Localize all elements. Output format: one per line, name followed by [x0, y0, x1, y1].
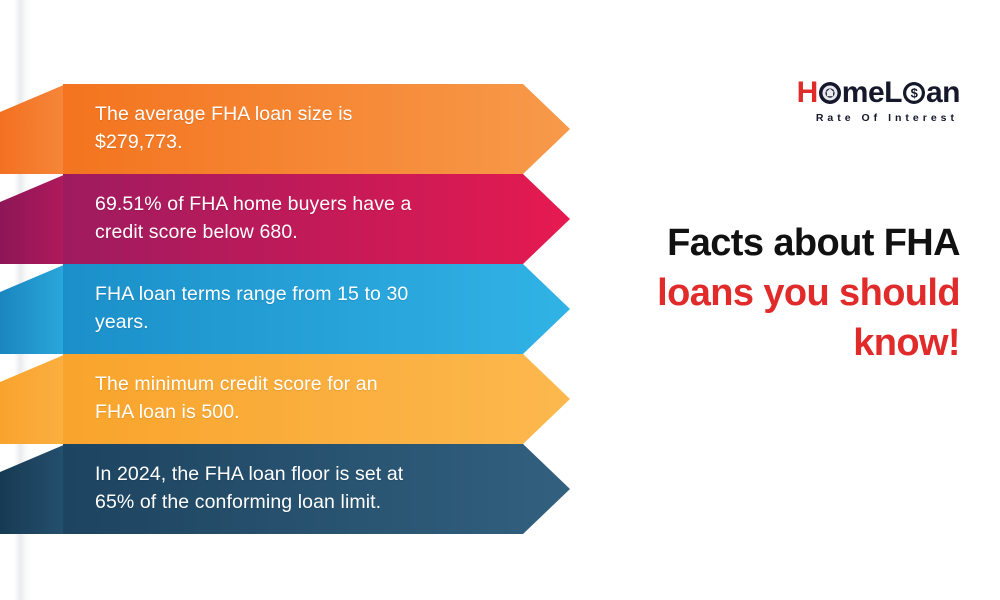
- home-circle-icon: [818, 81, 842, 105]
- fact-banner-2-fold: [0, 174, 66, 264]
- facts-banner-stack: The average FHA loan size is $279,773.: [0, 84, 570, 534]
- fact-banner-5-text: In 2024, the FHA loan floor is set at 65…: [95, 444, 495, 534]
- fact-banner-4-text: The minimum credit score for an FHA loan…: [95, 354, 495, 444]
- brand-logo[interactable]: H me L $ an Rate Of Interest: [750, 78, 960, 124]
- headline-line-1: Facts about FHA: [560, 218, 960, 268]
- logo-letters-me: me: [842, 78, 884, 108]
- headline-line-3: know!: [560, 318, 960, 368]
- fact-banner-3-text: FHA loan terms range from 15 to 30 years…: [95, 264, 495, 354]
- headline-line-2: loans you should: [560, 268, 960, 318]
- logo-letter-h: H: [797, 78, 818, 108]
- fact-banner-4[interactable]: The minimum credit score for an FHA loan…: [0, 354, 570, 444]
- fact-banner-3[interactable]: FHA loan terms range from 15 to 30 years…: [0, 264, 570, 354]
- fact-banner-2[interactable]: 69.51% of FHA home buyers have a credit …: [0, 174, 570, 264]
- logo-wordmark: H me L $ an: [750, 78, 960, 108]
- logo-tagline: Rate Of Interest: [750, 112, 960, 124]
- fact-banner-1-fold: [0, 84, 66, 174]
- fact-banner-1[interactable]: The average FHA loan size is $279,773.: [0, 84, 570, 174]
- dollar-circle-icon: $: [902, 81, 926, 105]
- fact-banner-5[interactable]: In 2024, the FHA loan floor is set at 65…: [0, 444, 570, 534]
- page-title: Facts about FHA loans you should know!: [560, 218, 960, 368]
- fact-banner-4-fold: [0, 354, 66, 444]
- logo-letter-l: L: [884, 78, 902, 108]
- logo-letters-an: an: [926, 78, 960, 108]
- infographic-canvas: The average FHA loan size is $279,773.: [0, 0, 1000, 600]
- fact-banner-2-text: 69.51% of FHA home buyers have a credit …: [95, 174, 495, 264]
- fact-banner-1-text: The average FHA loan size is $279,773.: [95, 84, 495, 174]
- fact-banner-5-fold: [0, 444, 66, 534]
- fact-banner-3-fold: [0, 264, 66, 354]
